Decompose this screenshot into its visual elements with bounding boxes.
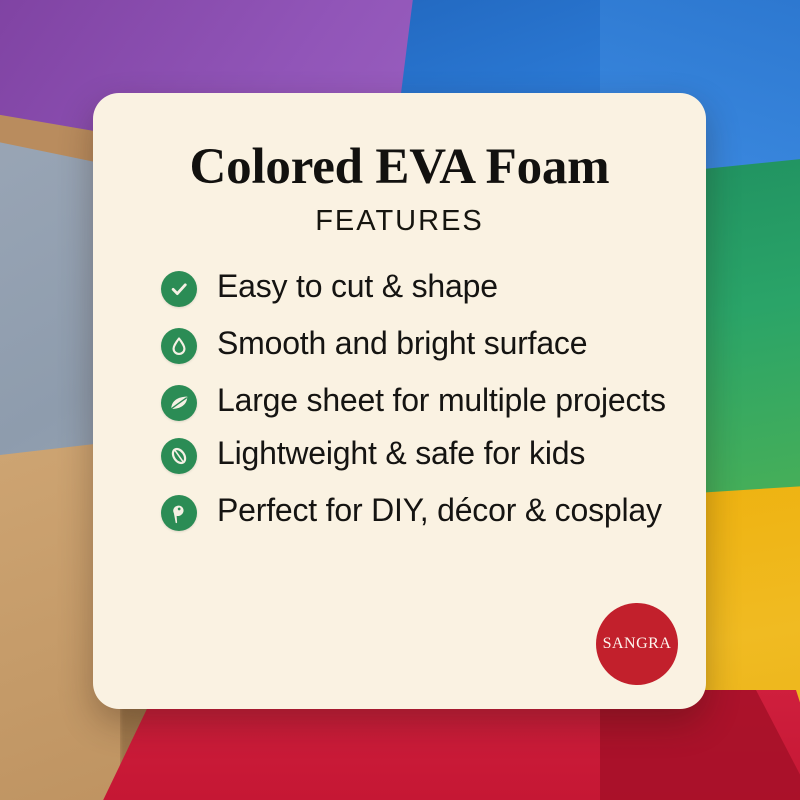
promo-graphic: Colored EVA Foam FEATURES Easy to cut & …: [0, 0, 800, 800]
feature-label: Easy to cut & shape: [217, 268, 498, 306]
brand-logo: SANGRA: [596, 603, 678, 685]
list-item: Easy to cut & shape: [161, 268, 680, 307]
feature-label: Perfect for DIY, décor & cosplay: [217, 492, 662, 530]
feature-label: Lightweight & safe for kids: [217, 435, 585, 473]
page-title: Colored EVA Foam: [119, 93, 680, 195]
feature-list: Easy to cut & shape Smooth and bright su…: [119, 238, 680, 531]
check-icon: [161, 271, 197, 307]
list-item: Large sheet for multiple projects: [161, 382, 680, 421]
sprout-icon: [161, 495, 197, 531]
list-item: Lightweight & safe for kids: [161, 435, 680, 474]
seed-icon: [161, 438, 197, 474]
section-subtitle: FEATURES: [119, 205, 680, 238]
brand-logo-text: SANGRA: [603, 635, 672, 653]
feature-label: Smooth and bright surface: [217, 325, 587, 363]
leaf-icon: [161, 385, 197, 421]
droplet-icon: [161, 328, 197, 364]
feature-label: Large sheet for multiple projects: [217, 382, 666, 420]
features-card: Colored EVA Foam FEATURES Easy to cut & …: [93, 93, 706, 709]
list-item: Perfect for DIY, décor & cosplay: [161, 492, 680, 531]
list-item: Smooth and bright surface: [161, 325, 680, 364]
